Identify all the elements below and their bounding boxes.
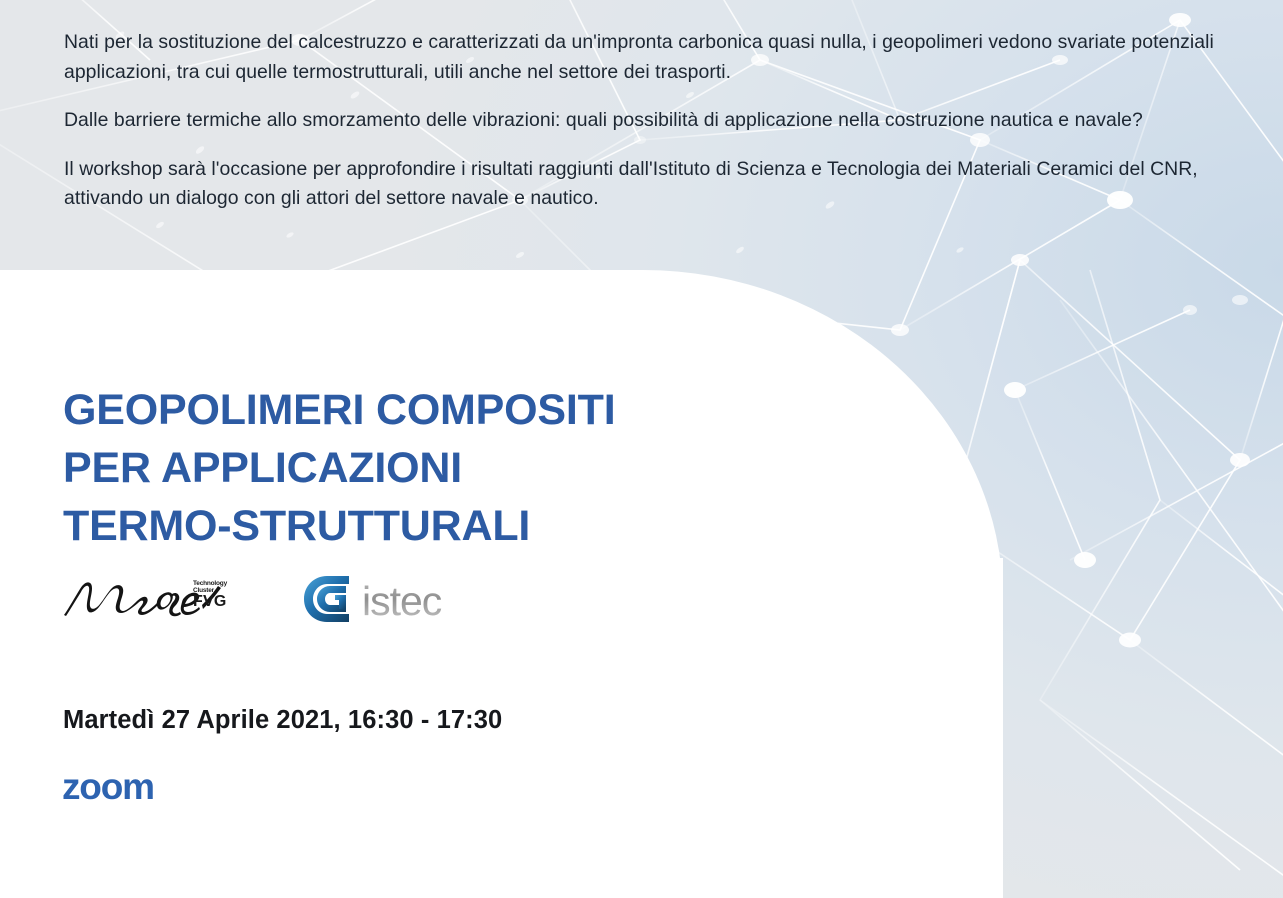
- intro-paragraph-3: Il workshop sarà l'occasione per approfo…: [64, 155, 1224, 214]
- zoom-logo: zoom: [62, 768, 180, 808]
- page-title-line-1: GEOPOLIMERI COMPOSITI: [63, 381, 863, 439]
- mare-tagline-fvg: FVG: [193, 593, 227, 610]
- page-title: GEOPOLIMERI COMPOSITI PER APPLICAZIONI T…: [63, 381, 863, 555]
- mare-logo: Technology Cluster FVG: [62, 572, 240, 628]
- intro-text-block: Nati per la sostituzione del calcestruzz…: [64, 28, 1224, 214]
- mare-tagline-technology: Technology: [193, 580, 228, 587]
- istec-wordmark: istec: [362, 578, 442, 624]
- intro-paragraph-1: Nati per la sostituzione del calcestruzz…: [64, 28, 1224, 87]
- intro-paragraph-2: Dalle barriere termiche allo smorzamento…: [64, 106, 1224, 136]
- mare-logo-icon: Technology Cluster FVG: [62, 572, 240, 628]
- event-poster: Nati per la sostituzione del calcestruzz…: [0, 0, 1283, 898]
- istec-logo: istec: [302, 574, 488, 626]
- event-datetime: Martedì 27 Aprile 2021, 16:30 - 17:30: [63, 706, 502, 735]
- page-title-line-2: PER APPLICAZIONI: [63, 439, 863, 497]
- zoom-wordmark: zoom: [62, 768, 154, 807]
- logo-row: Technology Cluster FVG: [62, 572, 488, 628]
- page-title-line-3: TERMO-STRUTTURALI: [63, 497, 863, 555]
- istec-logo-icon: istec: [302, 574, 488, 626]
- zoom-logo-icon: zoom: [62, 768, 180, 808]
